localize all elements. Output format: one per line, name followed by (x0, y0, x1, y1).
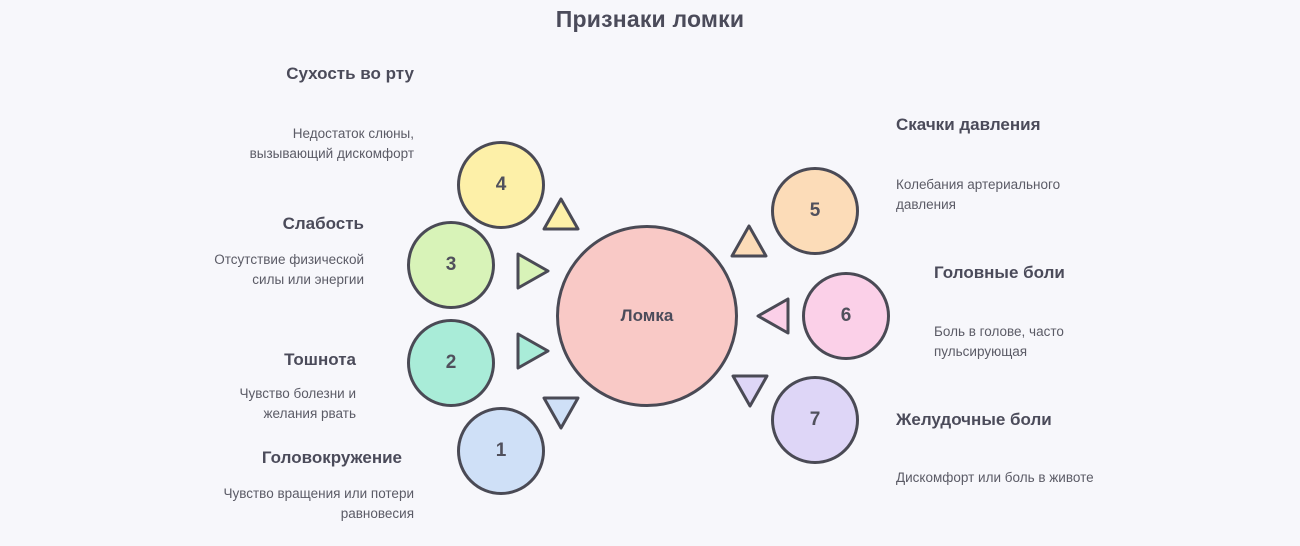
item-desc-dizziness: Чувство вращения или потери равновесия (200, 484, 414, 525)
node-2-label: 2 (446, 352, 457, 374)
node-3[interactable]: 3 (407, 221, 495, 309)
item-heading-dry-mouth: Сухость во рту (222, 62, 414, 87)
arrow-icon-weakness (510, 250, 552, 292)
node-4[interactable]: 4 (457, 141, 545, 229)
item-heading-pressure-surges: Скачки давления (896, 113, 1086, 138)
arrow-icon-pressure-surges (728, 222, 770, 264)
item-desc-pressure-surges: Колебания артериального давления (896, 175, 1086, 216)
arrow-icon-dizziness (540, 390, 582, 432)
node-3-label: 3 (446, 254, 457, 276)
item-desc-dry-mouth: Недостаток слюны, вызывающий дискомфорт (230, 124, 414, 165)
center-node: Ломка (556, 225, 738, 407)
node-7-label: 7 (810, 409, 821, 431)
item-heading-weakness: Слабость (190, 212, 364, 237)
arrow-icon-nausea (510, 330, 552, 372)
arrow-icon-stomach-pain (729, 368, 771, 410)
node-6-label: 6 (841, 305, 852, 327)
item-desc-headaches: Боль в голове, часто пульсирующая (934, 322, 1124, 363)
item-desc-nausea: Чувство болезни и желания рвать (190, 384, 356, 425)
center-node-label: Ломка (621, 306, 674, 326)
node-7[interactable]: 7 (771, 376, 859, 464)
item-heading-stomach-pain: Желудочные боли (896, 408, 1096, 433)
node-1[interactable]: 1 (457, 407, 545, 495)
arrow-icon-headaches (752, 295, 794, 337)
item-heading-headaches: Головные боли (934, 261, 1124, 286)
node-5[interactable]: 5 (771, 167, 859, 255)
item-desc-weakness: Отсутствие физической силы или энергии (196, 250, 364, 291)
item-desc-stomach-pain: Дискомфорт или боль в животе (896, 468, 1096, 488)
node-5-label: 5 (810, 200, 821, 222)
arrow-icon-dry-mouth (540, 195, 582, 237)
node-2[interactable]: 2 (407, 319, 495, 407)
infographic-canvas: Признаки ломки Сухость во рту Недостаток… (0, 0, 1300, 546)
node-6[interactable]: 6 (802, 272, 890, 360)
node-4-label: 4 (496, 174, 507, 196)
page-title: Признаки ломки (0, 6, 1300, 33)
item-heading-nausea: Тошнота (186, 348, 356, 373)
node-1-label: 1 (496, 440, 507, 462)
item-heading-dizziness: Головокружение (186, 446, 402, 471)
